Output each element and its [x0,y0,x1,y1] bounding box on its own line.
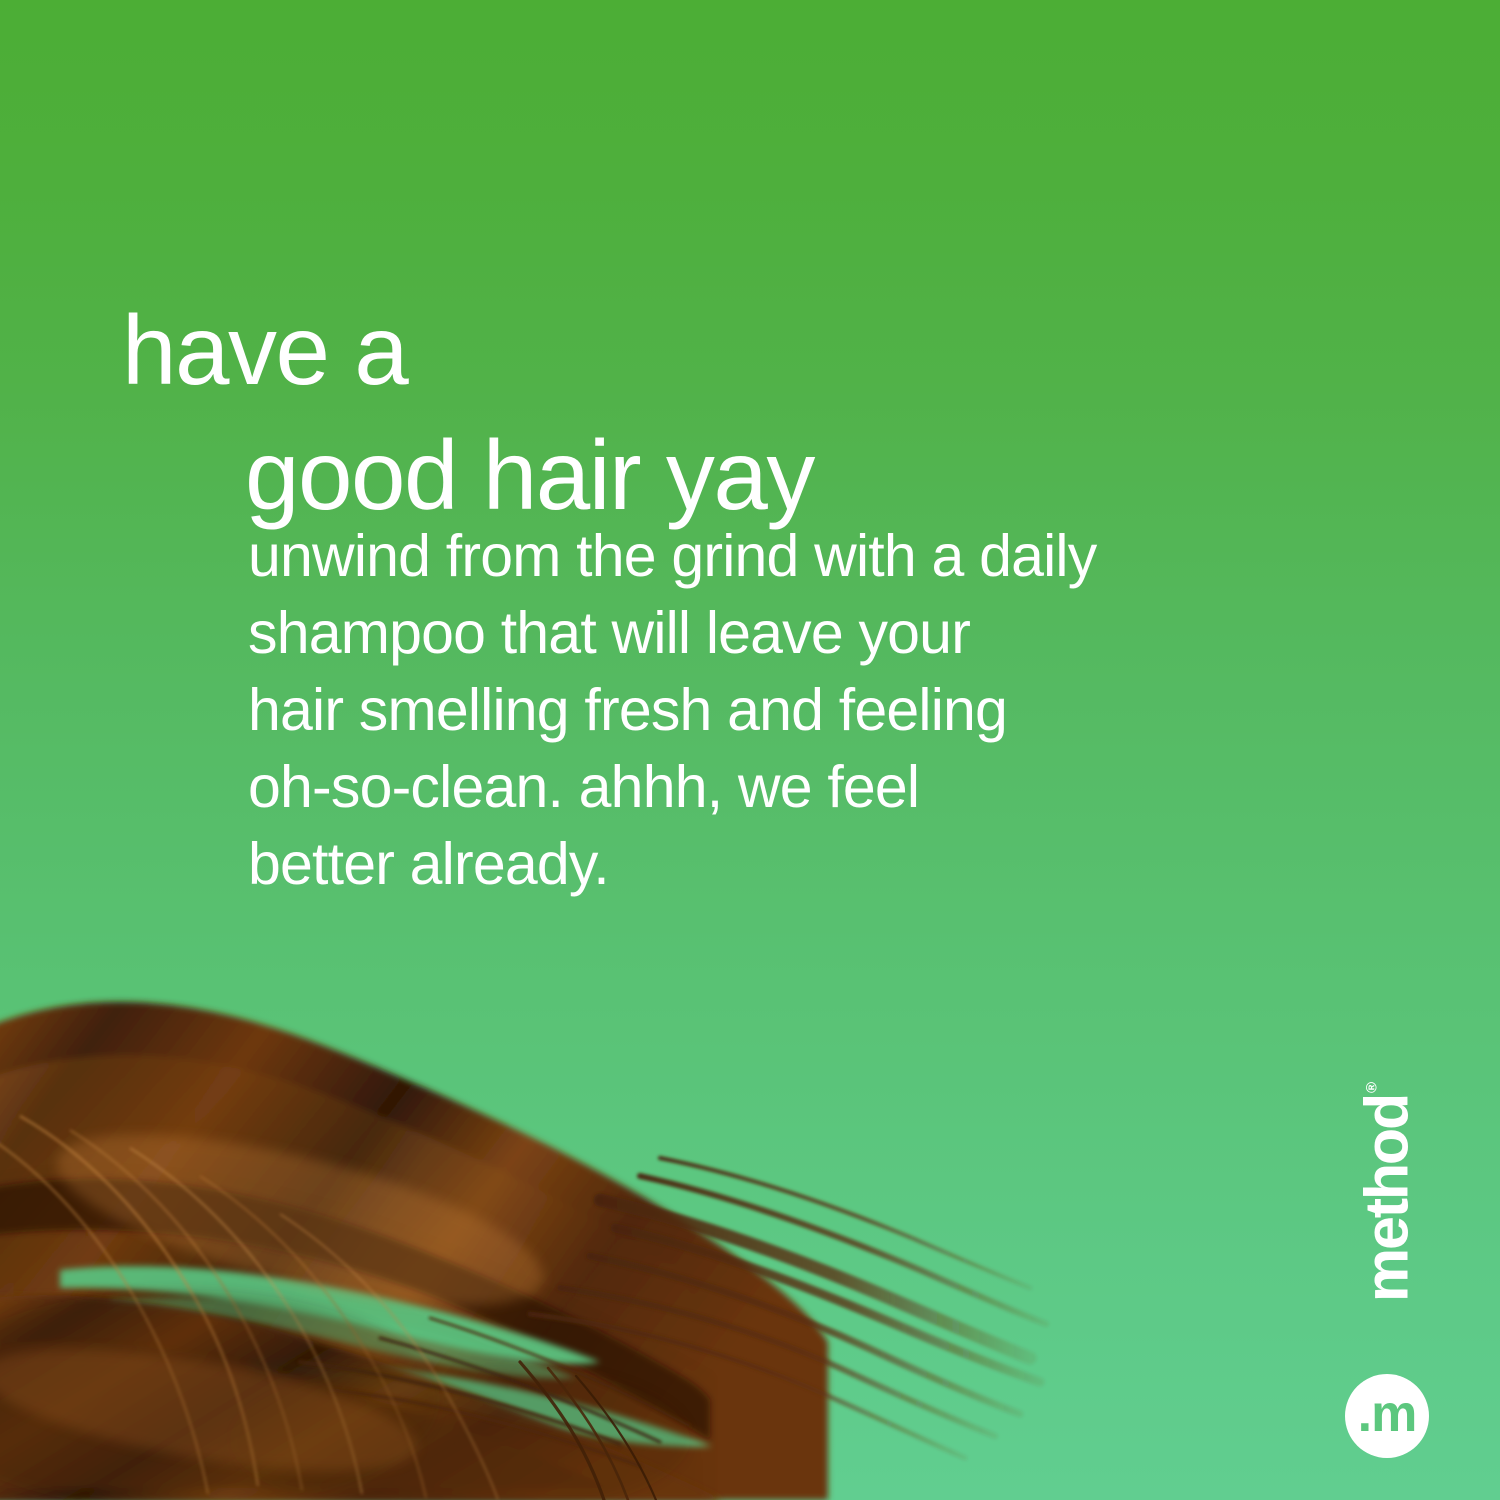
body-copy-line-4: oh-so-clean. ahhh, we feel [248,749,1308,826]
ad-canvas: have agood hair yay unwind from the grin… [0,0,1500,1500]
method-logo-lockup: method® .m [1332,1058,1442,1458]
method-wordmark-text: method [1353,1095,1421,1302]
body-copy-line-2: shampoo that will leave your [248,595,1308,672]
method-wordmark: method® [1357,1084,1418,1302]
body-copy-line-3: hair smelling fresh and feeling [248,672,1308,749]
body-copy: unwind from the grind with a daily shamp… [248,518,1308,903]
body-copy-line-5: better already. [248,826,1308,903]
hair-photo [0,970,1060,1500]
method-badge-icon: .m [1345,1374,1429,1458]
registered-trademark-icon: ® [1363,1082,1380,1093]
headline-line-1: have a [122,295,407,405]
body-copy-line-1: unwind from the grind with a daily [248,518,1308,595]
headline: have agood hair yay [122,288,814,538]
method-badge-mark: .m [1358,1388,1417,1440]
method-wordmark-wrap: method® [1332,1058,1442,1328]
